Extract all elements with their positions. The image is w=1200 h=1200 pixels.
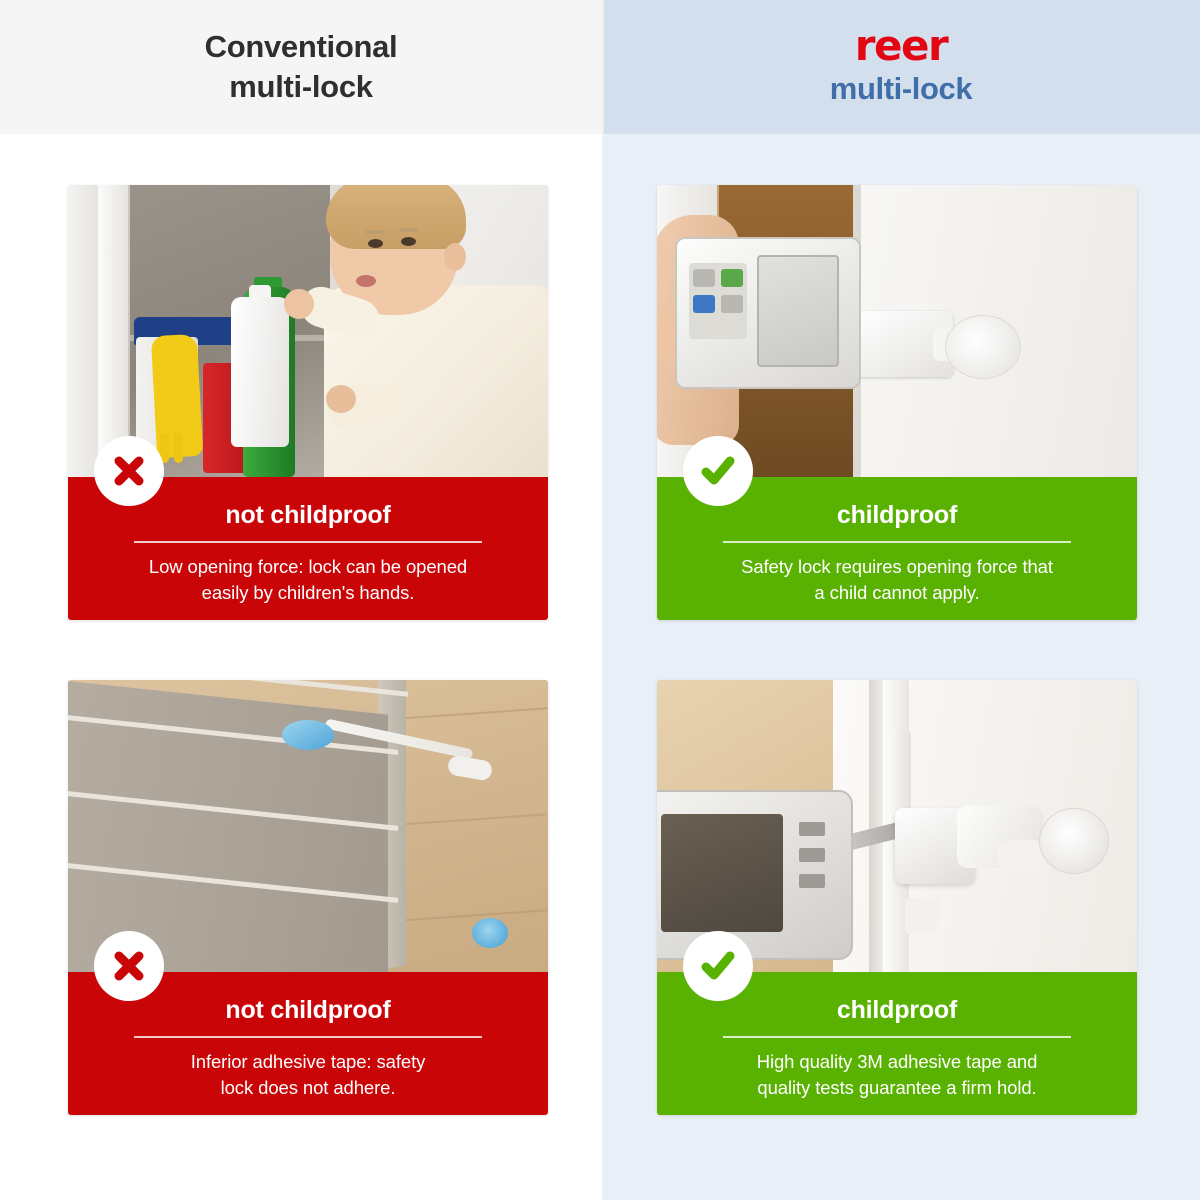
detail-line-2: quality tests guarantee a firm hold. bbox=[679, 1075, 1115, 1101]
detail-line-1: High quality 3M adhesive tape and bbox=[679, 1049, 1115, 1075]
card-childproof-opening-force: childproof Safety lock requires opening … bbox=[657, 185, 1137, 620]
card-not-childproof-opening-force: not childproof Low opening force: lock c… bbox=[68, 185, 548, 620]
check-icon bbox=[683, 931, 753, 1001]
photo-toddler-cabinet bbox=[68, 185, 548, 477]
status-label: childproof bbox=[679, 503, 1115, 528]
banner-divider bbox=[134, 541, 482, 543]
photo-lock-closeup-test bbox=[657, 680, 1137, 972]
comparison-infographic: Conventional multi-lock bbox=[0, 0, 1200, 1200]
status-banner-positive: childproof Safety lock requires opening … bbox=[657, 477, 1137, 620]
left-panel-header: Conventional multi-lock bbox=[0, 0, 602, 134]
photo-force-gauge-test bbox=[657, 185, 1137, 477]
right-cards: childproof Safety lock requires opening … bbox=[602, 134, 1200, 1200]
detail-line-2: lock does not adhere. bbox=[90, 1075, 526, 1101]
status-label: childproof bbox=[679, 998, 1115, 1023]
banner-divider bbox=[723, 541, 1071, 543]
left-header-line1: Conventional bbox=[205, 27, 398, 67]
status-banner-negative: not childproof Inferior adhesive tape: s… bbox=[68, 972, 548, 1115]
card-childproof-adhesive: childproof High quality 3M adhesive tape… bbox=[657, 680, 1137, 1115]
detail-line-2: a child cannot apply. bbox=[679, 580, 1115, 606]
detail-line-1: Low opening force: lock can be opened bbox=[90, 554, 526, 580]
detail-line-2: easily by children's hands. bbox=[90, 580, 526, 606]
check-icon bbox=[683, 436, 753, 506]
card-not-childproof-adhesive: not childproof Inferior adhesive tape: s… bbox=[68, 680, 548, 1115]
status-label: not childproof bbox=[90, 998, 526, 1023]
photo-dresser-detached-lock bbox=[68, 680, 548, 972]
cross-icon bbox=[94, 931, 164, 1001]
left-cards: not childproof Low opening force: lock c… bbox=[0, 134, 602, 1200]
detail-line-1: Safety lock requires opening force that bbox=[679, 554, 1115, 580]
reer-logo: reer bbox=[855, 25, 947, 68]
right-panel-header: reer multi-lock bbox=[602, 0, 1200, 134]
panel-divider bbox=[602, 0, 604, 1200]
panel-conventional: Conventional multi-lock bbox=[0, 0, 602, 1200]
left-header-line2: multi-lock bbox=[229, 67, 372, 107]
detail-line-1: Inferior adhesive tape: safety bbox=[90, 1049, 526, 1075]
banner-divider bbox=[723, 1036, 1071, 1038]
status-banner-negative: not childproof Low opening force: lock c… bbox=[68, 477, 548, 620]
status-banner-positive: childproof High quality 3M adhesive tape… bbox=[657, 972, 1137, 1115]
panel-reer-multi-lock: reer multi-lock bbox=[602, 0, 1200, 1200]
right-header-product: multi-lock bbox=[830, 70, 972, 109]
cross-icon bbox=[94, 436, 164, 506]
status-label: not childproof bbox=[90, 503, 526, 528]
banner-divider bbox=[134, 1036, 482, 1038]
